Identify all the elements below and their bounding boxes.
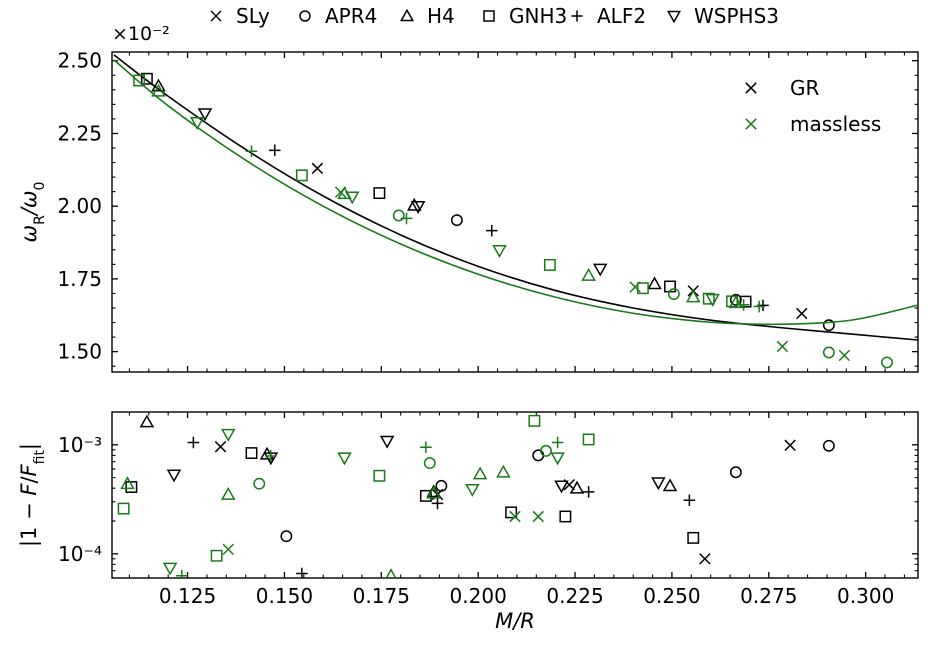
figure-root: SLyAPR4H4GNH3ALF2WSPHS3×10⁻²1.501.752.00…: [0, 0, 933, 645]
eos-legend-label: APR4: [325, 4, 377, 28]
eos-legend-label: SLy: [236, 4, 270, 28]
y-tick-label: 2.50: [57, 49, 102, 73]
model-legend-label: GR: [790, 76, 819, 100]
y-tick-label: 2.00: [57, 194, 102, 218]
y-tick-label: 1.75: [57, 267, 102, 291]
x-tick-label: 0.200: [450, 584, 507, 608]
x-tick-label: 0.150: [256, 584, 313, 608]
y-tick-label: 10⁻³: [58, 433, 102, 457]
eos-legend-label: GNH3: [509, 4, 567, 28]
x-tick-label: 0.250: [643, 584, 700, 608]
y-tick-label: 10⁻⁴: [58, 542, 102, 566]
eos-legend-label: WSPHS3: [694, 4, 779, 28]
figure-svg: SLyAPR4H4GNH3ALF2WSPHS3×10⁻²1.501.752.00…: [0, 0, 933, 645]
x-tick-label: 0.300: [837, 584, 894, 608]
y-tick-label: 1.50: [57, 340, 102, 364]
eos-legend-label: H4: [427, 4, 455, 28]
eos-legend-label: ALF2: [597, 4, 646, 28]
x-tick-label: 0.125: [159, 584, 216, 608]
x-tick-label: 0.275: [740, 584, 797, 608]
y-tick-label: 2.25: [57, 121, 102, 145]
x-axis-label: M/R: [495, 609, 535, 633]
x-tick-label: 0.175: [353, 584, 410, 608]
y-offset-label: ×10⁻²: [112, 23, 170, 45]
model-legend-label: massless: [790, 112, 881, 136]
x-tick-label: 0.225: [546, 584, 603, 608]
